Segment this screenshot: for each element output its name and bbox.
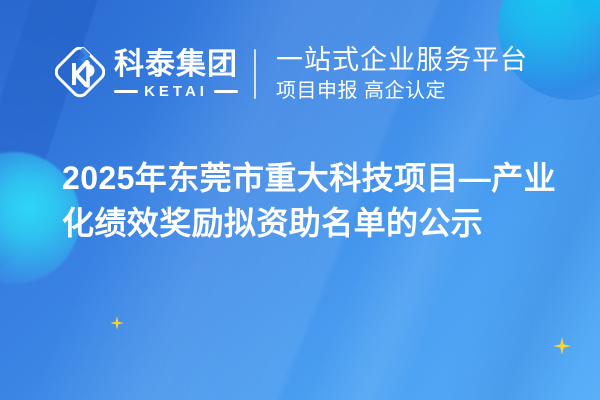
page-title-line-1: 2025年东莞市重大科技项目—产业 (62, 156, 562, 201)
brand-rule-right (214, 90, 238, 93)
announcement-banner: 科泰集团 KETAI 一站式企业服务平台 项目申报 高企认定 2025年东莞市重… (0, 0, 600, 400)
slogan-main: 一站式企业服务平台 (276, 45, 528, 75)
header-divider (254, 49, 256, 99)
brand-name-en-row: KETAI (114, 84, 238, 99)
brand-lockup: 科泰集团 KETAI (55, 47, 238, 101)
brand-name-en: KETAI (144, 84, 208, 99)
banner-header: 科泰集团 KETAI 一站式企业服务平台 项目申报 高企认定 (0, 38, 600, 110)
sparkle-star-icon-left (110, 316, 124, 330)
sparkle-star-icon-right (553, 337, 571, 355)
page-title: 2025年东莞市重大科技项目—产业 化绩效奖励拟资助名单的公示 (62, 156, 562, 247)
cyan-circle-highlight (566, 0, 600, 28)
slogan-block: 一站式企业服务平台 项目申报 高企认定 (276, 45, 528, 102)
brand-text: 科泰集团 KETAI (114, 50, 238, 99)
brand-name-cn: 科泰集团 (114, 50, 238, 81)
slogan-sub: 项目申报 高企认定 (276, 79, 528, 103)
brand-rule-left (114, 90, 138, 93)
page-title-line-2: 化绩效奖励拟资助名单的公示 (62, 201, 562, 246)
ketai-kp-diamond-logo-icon (55, 47, 105, 101)
